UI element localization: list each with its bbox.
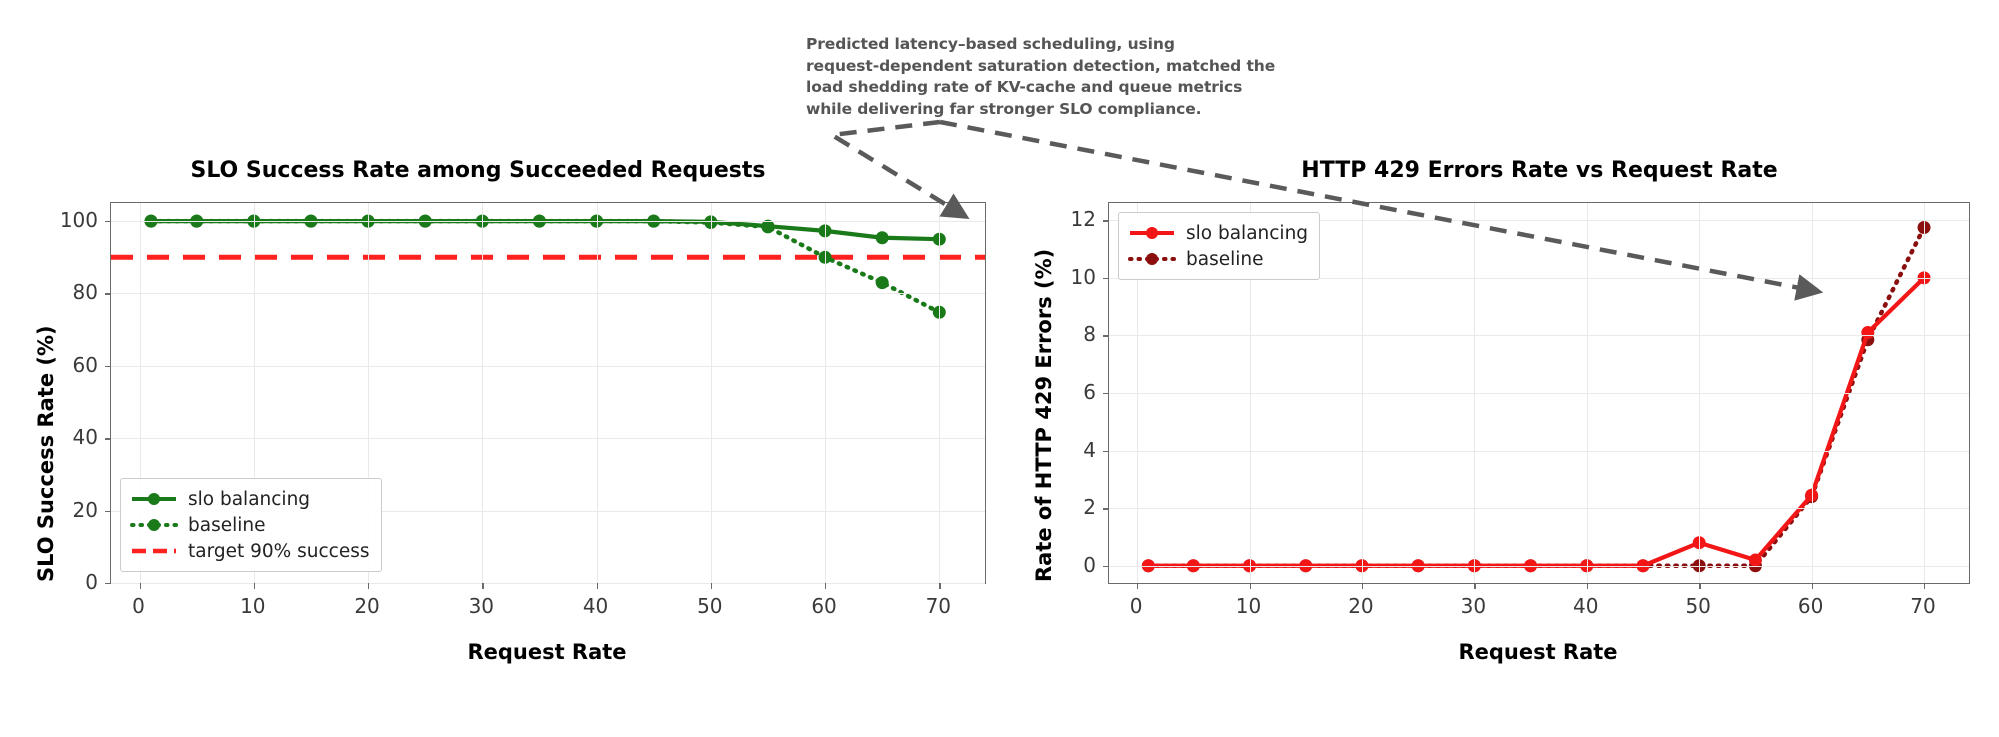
gridline-vertical (1474, 203, 1475, 583)
x-tick-mark (597, 583, 598, 589)
x-tick-mark (1587, 583, 1588, 589)
gridline-vertical (1587, 203, 1588, 583)
legend-right[interactable]: slo balancing baseline (1118, 212, 1320, 280)
y-tick-label: 60 (73, 353, 98, 377)
gridline-horizontal (111, 583, 985, 584)
x-tick-mark (254, 583, 255, 589)
legend-label-baseline: baseline (1186, 249, 1264, 270)
legend-item-baseline[interactable]: baseline (1128, 246, 1308, 272)
y-tick-label: 0 (85, 570, 98, 594)
data-point (876, 276, 889, 289)
y-tick-mark (1103, 220, 1109, 221)
y-tick-mark (105, 293, 111, 294)
y-tick-label: 2 (1083, 495, 1096, 519)
x-tick-mark (1924, 583, 1925, 589)
y-tick-label: 0 (1083, 553, 1096, 577)
x-tick-mark (140, 583, 141, 589)
x-tick-label: 10 (240, 594, 265, 618)
gridline-horizontal (1109, 393, 1969, 394)
x-tick-label: 10 (1236, 594, 1261, 618)
y-tick-mark (1103, 451, 1109, 452)
legend-item-slo-balancing[interactable]: slo balancing (1128, 220, 1308, 246)
legend-label-slo-balancing: slo balancing (188, 489, 310, 510)
x-tick-label: 20 (1348, 594, 1373, 618)
gridline-vertical (939, 203, 940, 583)
x-tick-mark (1250, 583, 1251, 589)
gridline-horizontal (111, 221, 985, 222)
gridline-vertical (1362, 203, 1363, 583)
x-tick-mark (1812, 583, 1813, 589)
data-point (1861, 326, 1874, 339)
legend-item-target[interactable]: target 90% success (130, 538, 370, 564)
x-tick-mark (1699, 583, 1700, 589)
y-axis-label-right: Rate of HTTP 429 Errors (%) (1032, 249, 1056, 582)
x-tick-label: 30 (1461, 594, 1486, 618)
y-tick-label: 6 (1083, 380, 1096, 404)
x-tick-mark (1137, 583, 1138, 589)
y-tick-mark (1103, 393, 1109, 394)
chart-panel-slo-success: SLO Success Rate among Succeeded Request… (0, 150, 1000, 737)
annotation-line-3: load shedding rate of KV-cache and queue… (806, 77, 1246, 99)
legend-swatch-baseline-icon (130, 515, 178, 535)
chart-title-left: SLO Success Rate among Succeeded Request… (0, 158, 978, 183)
y-tick-mark (105, 583, 111, 584)
x-tick-mark (482, 583, 483, 589)
y-tick-mark (1103, 335, 1109, 336)
y-axis-label-left: SLO Success Rate (%) (34, 325, 58, 582)
y-tick-label: 80 (73, 280, 98, 304)
legend-item-slo-balancing[interactable]: slo balancing (130, 486, 370, 512)
x-axis-label-right: Request Rate (1458, 640, 1617, 664)
legend-swatch-slo-balancing-icon (1128, 223, 1176, 243)
gridline-vertical (1812, 203, 1813, 583)
gridline-horizontal (111, 438, 985, 439)
x-tick-label: 70 (926, 594, 951, 618)
x-tick-label: 60 (1798, 594, 1823, 618)
x-tick-label: 70 (1910, 594, 1935, 618)
x-tick-label: 40 (583, 594, 608, 618)
gridline-horizontal (1109, 335, 1969, 336)
chart-title-right: HTTP 429 Errors Rate vs Request Rate (1040, 158, 1999, 183)
figure: Predicted latency–based scheduling, usin… (0, 0, 1999, 737)
x-tick-label: 30 (469, 594, 494, 618)
chart-panel-http429: HTTP 429 Errors Rate vs Request Rate Rat… (1000, 150, 1999, 737)
legend-label-slo-balancing: slo balancing (1186, 223, 1308, 244)
x-tick-mark (368, 583, 369, 589)
annotation-text: Predicted latency–based scheduling, usin… (806, 34, 1246, 120)
x-tick-mark (711, 583, 712, 589)
gridline-vertical (711, 203, 712, 583)
gridline-horizontal (1109, 566, 1969, 567)
x-tick-label: 60 (811, 594, 836, 618)
gridline-horizontal (111, 366, 985, 367)
x-tick-mark (939, 583, 940, 589)
gridline-vertical (1924, 203, 1925, 583)
legend-swatch-baseline-icon (1128, 249, 1176, 269)
legend-swatch-target-icon (130, 541, 178, 561)
y-tick-label: 40 (73, 425, 98, 449)
y-tick-label: 20 (73, 498, 98, 522)
annotation-line-2: request-dependent saturation detection, … (806, 56, 1246, 78)
data-point (1749, 553, 1762, 566)
y-tick-label: 4 (1083, 438, 1096, 462)
y-tick-label: 8 (1083, 322, 1096, 346)
x-tick-label: 0 (132, 594, 145, 618)
gridline-horizontal (111, 293, 985, 294)
legend-swatch-slo-balancing-icon (130, 489, 178, 509)
y-tick-mark (1103, 278, 1109, 279)
x-tick-mark (1474, 583, 1475, 589)
y-tick-label: 12 (1071, 207, 1096, 231)
series-line (1148, 278, 1924, 566)
legend-label-baseline: baseline (188, 515, 266, 536)
data-point (876, 231, 889, 244)
y-tick-mark (105, 221, 111, 222)
x-tick-label: 50 (697, 594, 722, 618)
x-tick-label: 50 (1685, 594, 1710, 618)
legend-left[interactable]: slo balancing baseline target 90% succes… (120, 478, 382, 572)
annotation-line-1: Predicted latency–based scheduling, usin… (806, 34, 1246, 56)
y-tick-mark (105, 366, 111, 367)
y-tick-mark (1103, 508, 1109, 509)
x-axis-label-left: Request Rate (467, 640, 626, 664)
annotation-line-4: while delivering far stronger SLO compli… (806, 99, 1246, 121)
gridline-vertical (482, 203, 483, 583)
x-tick-mark (1362, 583, 1363, 589)
legend-item-baseline[interactable]: baseline (130, 512, 370, 538)
gridline-horizontal (1109, 451, 1969, 452)
gridline-vertical (825, 203, 826, 583)
x-tick-mark (825, 583, 826, 589)
x-tick-label: 40 (1573, 594, 1598, 618)
x-tick-label: 0 (1130, 594, 1143, 618)
gridline-vertical (597, 203, 598, 583)
gridline-vertical (1699, 203, 1700, 583)
y-tick-mark (105, 438, 111, 439)
y-tick-mark (105, 511, 111, 512)
y-tick-mark (1103, 566, 1109, 567)
legend-label-target: target 90% success (188, 541, 370, 562)
y-tick-label: 10 (1071, 265, 1096, 289)
gridline-horizontal (1109, 508, 1969, 509)
x-tick-label: 20 (354, 594, 379, 618)
y-tick-label: 100 (60, 208, 98, 232)
